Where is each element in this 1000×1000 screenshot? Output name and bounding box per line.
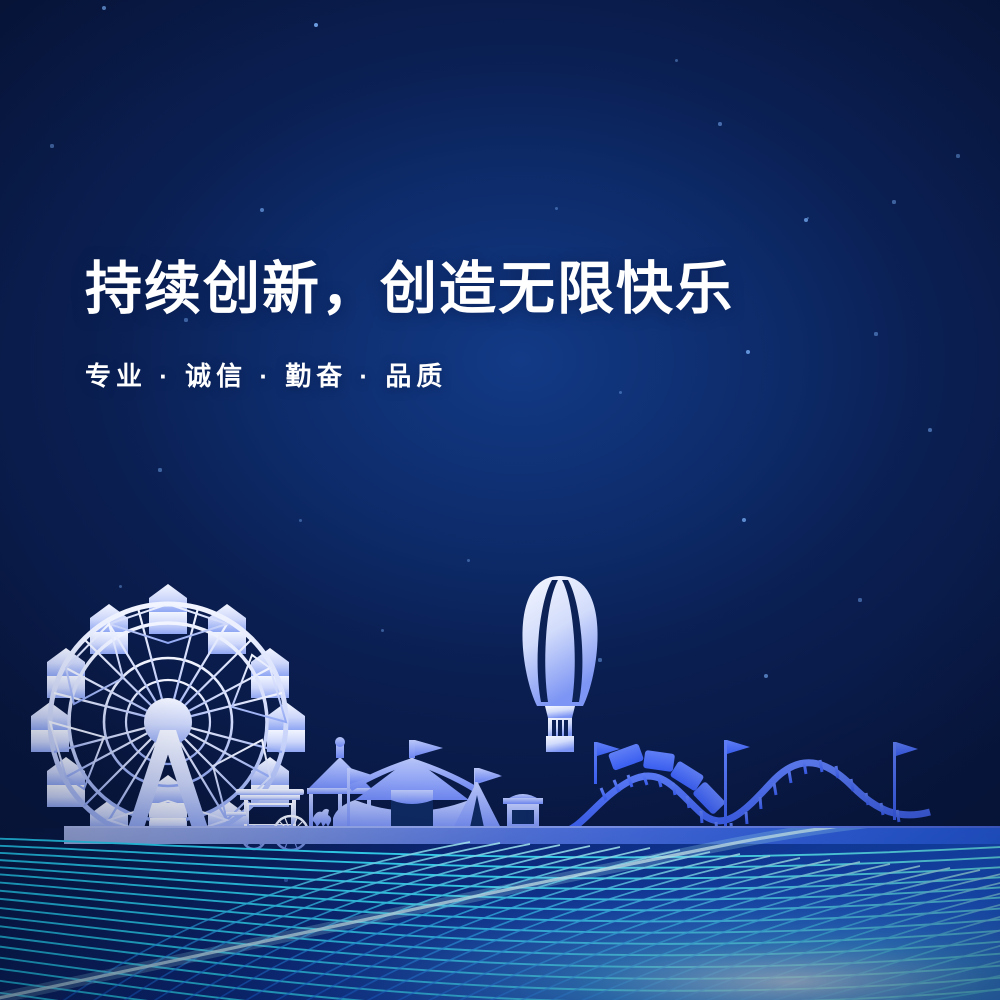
- light-wave-grid: [0, 0, 1000, 1000]
- page-subtitle: 专业 · 诚信 · 勤奋 · 品质: [85, 356, 734, 393]
- hero-copy-block: 持续创新，创造无限快乐 专业 · 诚信 · 勤奋 · 品质: [85, 258, 734, 393]
- page-title: 持续创新，创造无限快乐: [85, 258, 734, 322]
- banner-canvas: 持续创新，创造无限快乐 专业 · 诚信 · 勤奋 · 品质: [0, 0, 1000, 1000]
